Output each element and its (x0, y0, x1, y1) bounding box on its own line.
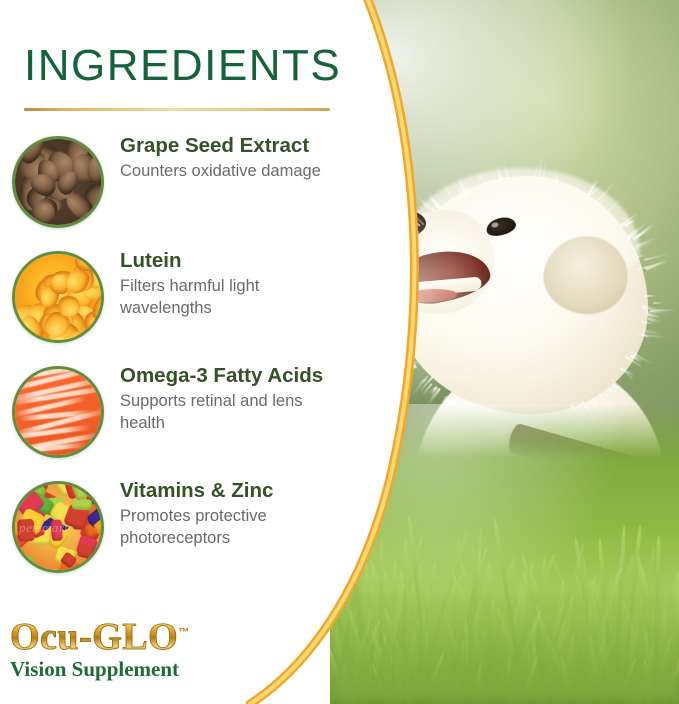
grass-field (330, 404, 679, 704)
ingredient-item: petsmart Vitamins & Zinc Promotes protec… (8, 475, 340, 583)
ingredient-description: Filters harmful light wavelengths (120, 276, 340, 320)
photo-watermark: petsmart (19, 520, 104, 536)
salmon-fillet-icon (12, 366, 104, 458)
infographic-root: INGREDIENTS Grape Seed Extract Counters … (0, 0, 679, 704)
product-photo (330, 0, 679, 704)
grass-foreground-blur (330, 554, 679, 704)
brand-name: Ocu-GLO™ (10, 618, 190, 656)
ingredient-item: Lutein Filters harmful light wavelengths (8, 245, 340, 353)
grape-seed-icon (12, 136, 104, 228)
ingredients-panel: INGREDIENTS Grape Seed Extract Counters … (0, 0, 340, 704)
ingredient-description: Supports retinal and lens health (120, 391, 340, 435)
ingredient-name: Lutein (120, 249, 340, 273)
fruit-salad-icon: petsmart (12, 481, 104, 573)
page-title: INGREDIENTS (24, 44, 341, 88)
brand-logo: Ocu-GLO™ Vision Supplement (10, 618, 310, 680)
trademark-symbol: ™ (178, 626, 190, 638)
ingredient-text: Omega-3 Fatty Acids Supports retinal and… (120, 364, 340, 435)
brand-name-text: Ocu-GLO (10, 616, 178, 658)
ingredient-description: Promotes protective photoreceptors (120, 506, 340, 550)
ingredient-text: Grape Seed Extract Counters oxidative da… (120, 134, 340, 183)
ingredient-text: Lutein Filters harmful light wavelengths (120, 249, 340, 320)
marigold-petals-icon (12, 251, 104, 343)
ingredient-name: Vitamins & Zinc (120, 479, 340, 503)
ingredient-item: Grape Seed Extract Counters oxidative da… (8, 130, 340, 238)
brand-tagline: Vision Supplement (10, 659, 310, 680)
title-divider (24, 108, 330, 111)
ingredient-item: Omega-3 Fatty Acids Supports retinal and… (8, 360, 340, 468)
ingredient-description: Counters oxidative damage (120, 161, 340, 183)
ingredient-name: Grape Seed Extract (120, 134, 340, 158)
ingredient-text: Vitamins & Zinc Promotes protective phot… (120, 479, 340, 550)
ingredient-name: Omega-3 Fatty Acids (120, 364, 340, 388)
